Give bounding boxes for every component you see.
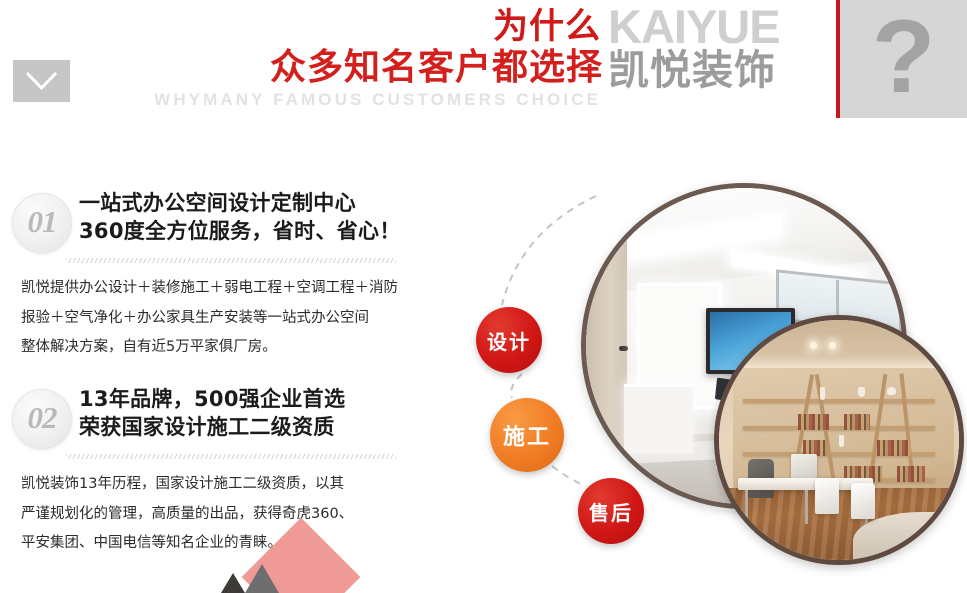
hatched-divider <box>66 454 396 459</box>
feature-heading-line1: 13年品牌，500强企业首选 <box>79 386 409 414</box>
brand-name-en: KAIYUE <box>608 4 830 49</box>
feature-body-line: 凯悦装饰13年历程，国家设计施工二级资质，以其 <box>21 470 396 500</box>
header-title-line2: 众多知名客户都选择 <box>0 48 603 88</box>
header-subtitle-en: WHYMANY FAMOUS CUSTOMERS CHOICE <box>0 90 601 110</box>
promo-banner: ? KAIYUE 凯悦装饰 为什么 众多知名客户都选择 WHYMANY FAMO… <box>0 0 967 593</box>
feature-body-text: 凯悦提供办公设计＋装修施工＋弱电工程＋空调工程＋消防 报验＋空气净化＋办公家具生… <box>21 274 396 363</box>
brand-logo: KAIYUE 凯悦装饰 <box>608 4 830 116</box>
header-title-line1: 为什么 <box>0 8 601 47</box>
process-badge-after-sales[interactable]: 售后 <box>578 478 644 544</box>
decor-triangle-dark <box>221 573 245 593</box>
feature-heading-line1: 一站式办公空间设计定制中心 <box>79 190 409 218</box>
feature-body-line: 整体解决方案，自有近5万平家俱厂房。 <box>21 333 396 363</box>
feature-number-label: 02 <box>13 400 71 436</box>
question-mark-panel: ? <box>836 0 967 118</box>
feature-number-badge: 01 <box>12 193 72 253</box>
library-scene-illustration <box>719 320 959 560</box>
chevron-down-icon <box>13 60 70 102</box>
feature-number-badge: 02 <box>12 389 72 449</box>
process-badge-design[interactable]: 设计 <box>476 307 542 373</box>
feature-heading-line2: 荣获国家设计施工二级资质 <box>79 414 409 442</box>
feature-number-label: 01 <box>13 204 71 240</box>
photo-library-meeting-room <box>714 315 964 565</box>
feature-body-text: 凯悦装饰13年历程，国家设计施工二级资质，以其 严谨规划化的管理，高质量的出品，… <box>21 470 396 559</box>
brand-name-cn: 凯悦装饰 <box>608 48 830 93</box>
hatched-divider <box>66 258 396 263</box>
feature-heading-line2: 360度全方位服务，省时、省心！ <box>79 218 409 246</box>
feature-body-line: 凯悦提供办公设计＋装修施工＋弱电工程＋空调工程＋消防 <box>21 274 396 304</box>
decor-triangle-mid <box>245 564 279 593</box>
feature-heading: 一站式办公空间设计定制中心 360度全方位服务，省时、省心！ <box>79 190 409 245</box>
question-mark-icon: ? <box>840 5 967 109</box>
feature-body-line: 严谨规划化的管理，高质量的出品，获得奇虎360、 <box>21 500 396 530</box>
feature-heading: 13年品牌，500强企业首选 荣获国家设计施工二级资质 <box>79 386 409 441</box>
process-badge-construction[interactable]: 施工 <box>490 398 564 472</box>
feature-body-line: 报验＋空气净化＋办公家具生产安装等一站式办公空间 <box>21 304 396 334</box>
feature-body-line: 平安集团、中国电信等知名企业的青睐。 <box>21 529 396 559</box>
